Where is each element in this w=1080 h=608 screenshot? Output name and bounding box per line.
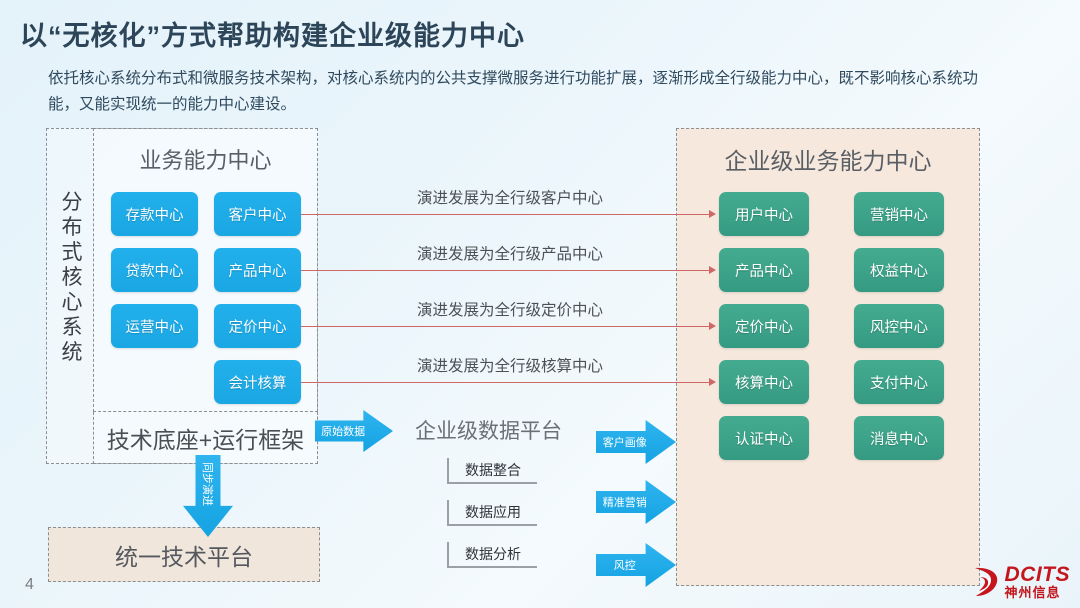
data-item-analysis[interactable]: 数据分析 [447, 542, 537, 568]
arrow-precision-marketing-label: 精准营销 [603, 494, 669, 510]
evolution-label-accounting: 演进发展为全行级核算中心 [330, 354, 690, 376]
arrow-raw-data: 原始数据 [315, 410, 393, 452]
arrow-risk-control-label: 风控 [614, 557, 658, 573]
logo-cn-text: 神州信息 [1005, 586, 1071, 600]
chip-loan-center[interactable]: 贷款中心 [111, 248, 198, 292]
chip-ent-product-center[interactable]: 产品中心 [719, 248, 809, 292]
chip-message-center[interactable]: 消息中心 [854, 416, 944, 460]
data-platform-heading: 企业级数据平台 [390, 415, 587, 445]
page-title: 以“无核化”方式帮助构建企业级能力中心 [20, 14, 525, 53]
dcits-mark-icon [969, 565, 1001, 599]
company-logo: DCITS 神州信息 [969, 564, 1071, 600]
page-subtitle: 依托核心系统分布式和微服务技术架构，对核心系统内的公共支撑微服务进行功能扩展，逐… [48, 66, 978, 118]
logo-text: DCITS 神州信息 [1005, 564, 1071, 600]
evolution-line-customer [301, 214, 711, 215]
chip-rights-center[interactable]: 权益中心 [854, 248, 944, 292]
chip-customer-center[interactable]: 客户中心 [214, 192, 301, 236]
evolution-arrowhead-customer [709, 210, 716, 218]
arrow-risk-control: 风控 [596, 543, 676, 587]
arrow-sync-evolution-label: 同步演进 [200, 462, 216, 506]
evolution-line-pricing [301, 326, 711, 327]
chip-accounting[interactable]: 会计核算 [214, 360, 301, 404]
evolution-arrowhead-accounting [709, 378, 716, 386]
distributed-core-system-label: 分布式核心系统 [54, 190, 90, 365]
evolution-arrowhead-product [709, 266, 716, 274]
arrow-customer-profile-label: 客户画像 [603, 434, 669, 450]
business-center-heading: 业务能力中心 [93, 143, 318, 175]
chip-marketing-center[interactable]: 营销中心 [854, 192, 944, 236]
chip-payment-center[interactable]: 支付中心 [854, 360, 944, 404]
evolution-line-product [301, 270, 711, 271]
chip-ent-pricing-center[interactable]: 定价中心 [719, 304, 809, 348]
data-item-integration[interactable]: 数据整合 [447, 458, 537, 484]
arrow-customer-profile: 客户画像 [596, 420, 676, 464]
evolution-label-pricing: 演进发展为全行级定价中心 [330, 298, 690, 320]
logo-en-text: DCITS [1005, 564, 1071, 586]
arrow-precision-marketing: 精准营销 [596, 480, 676, 524]
enterprise-center-heading: 企业级业务能力中心 [676, 142, 980, 176]
arrow-sync-evolution: 同步演进 [183, 455, 233, 537]
chip-risk-control-center[interactable]: 风控中心 [854, 304, 944, 348]
chip-auth-center[interactable]: 认证中心 [719, 416, 809, 460]
chip-deposit-center[interactable]: 存款中心 [111, 192, 198, 236]
chip-operation-center[interactable]: 运营中心 [111, 304, 198, 348]
chip-ent-accounting-center[interactable]: 核算中心 [719, 360, 809, 404]
evolution-label-product: 演进发展为全行级产品中心 [330, 242, 690, 264]
data-item-application[interactable]: 数据应用 [447, 500, 537, 526]
chip-pricing-center[interactable]: 定价中心 [214, 304, 301, 348]
evolution-label-customer: 演进发展为全行级客户中心 [330, 186, 690, 208]
chip-user-center[interactable]: 用户中心 [719, 192, 809, 236]
evolution-arrowhead-pricing [709, 322, 716, 330]
page-number: 4 [25, 576, 34, 594]
unified-platform-label: 统一技术平台 [48, 527, 320, 582]
evolution-line-accounting [301, 382, 711, 383]
slide-canvas: 以“无核化”方式帮助构建企业级能力中心 依托核心系统分布式和微服务技术架构，对核… [0, 0, 1080, 608]
chip-product-center[interactable]: 产品中心 [214, 248, 301, 292]
arrow-raw-data-label: 原始数据 [321, 423, 387, 439]
